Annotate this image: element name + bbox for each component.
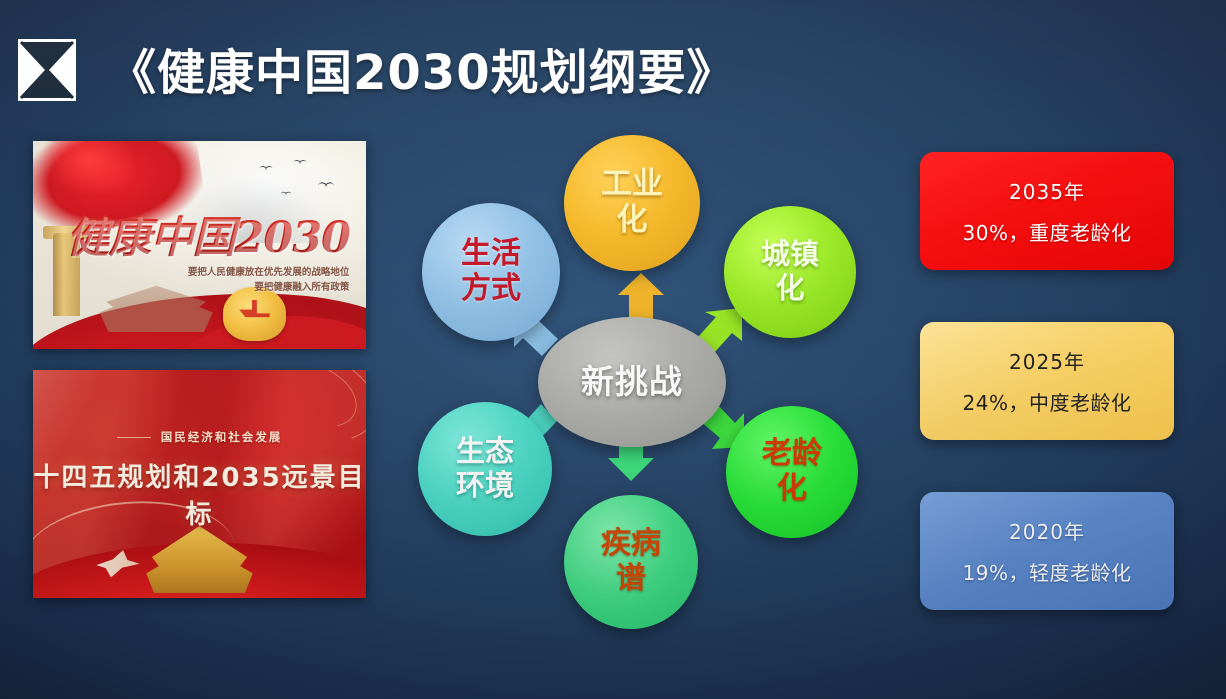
node-industrialization-line1: 工业 (601, 167, 663, 203)
card-2020-year: 2020年 (1009, 516, 1085, 545)
node-lifestyle-line1: 生活 (461, 237, 521, 272)
node-aging-population-line2: 化 (762, 472, 822, 507)
poster-health-subtitle: 要把人民健康放在优先发展的战略地位 要把健康融入所有政策 (143, 266, 349, 295)
health-china-2030-poster[interactable]: 健康中国2030 要把人民健康放在优先发展的战略地位 要把健康融入所有政策 (33, 141, 366, 349)
card-2020[interactable]: 2020年 19%，轻度老龄化 (920, 492, 1174, 610)
node-disease-spectrum-line2: 谱 (601, 562, 661, 597)
node-ecological-environment-line2: 环境 (456, 469, 514, 503)
poster-health-subtitle-line1: 要把人民健康放在优先发展的战略地位 (143, 266, 349, 281)
node-industrialization[interactable]: 工业 化 (564, 135, 700, 271)
node-urbanization[interactable]: 城镇 化 (724, 206, 856, 338)
bird-icon (293, 160, 307, 167)
bird-icon (318, 182, 335, 190)
slide-canvas: 《健康中国2030规划纲要》 健康中国2030 要把人民健康放在优先发展的战略地… (0, 0, 1226, 699)
node-lifestyle[interactable]: 生活 方式 (422, 203, 560, 341)
poster-health-subtitle-line2: 要把健康融入所有政策 (143, 281, 349, 296)
card-2035-year: 2035年 (1009, 176, 1085, 205)
five-year-plan-poster[interactable]: 国民经济和社会发展 十四五规划和2035远景目标 (33, 370, 366, 598)
hammer-sickle-mark (239, 300, 269, 324)
node-lifestyle-line2: 方式 (461, 272, 521, 307)
aging-forecast-cards: 2035年 30%，重度老龄化 2025年 24%，中度老龄化 2020年 19… (916, 131, 1208, 631)
node-urbanization-line1: 城镇 (761, 238, 819, 272)
node-disease-spectrum[interactable]: 疾病 谱 (564, 495, 698, 629)
card-2025[interactable]: 2025年 24%，中度老龄化 (920, 322, 1174, 440)
divider-rule (117, 437, 151, 438)
node-disease-spectrum-line1: 疾病 (601, 527, 661, 562)
card-2025-detail: 24%，中度老龄化 (963, 387, 1132, 416)
node-urbanization-line2: 化 (761, 272, 819, 306)
node-aging-population-line1: 老龄 (762, 437, 822, 472)
page-title: 《健康中国2030规划纲要》 (108, 33, 736, 103)
node-aging-population[interactable]: 老龄 化 (726, 406, 858, 538)
poster-health-title: 健康中国2030 (66, 203, 352, 265)
poster-plan-kicker: 国民经济和社会发展 (33, 429, 366, 445)
node-ecological-environment-line1: 生态 (456, 435, 514, 469)
card-2035-detail: 30%，重度老龄化 (963, 217, 1132, 246)
card-2025-year: 2025年 (1009, 346, 1085, 375)
node-new-challenges[interactable]: 新挑战 (538, 317, 726, 447)
bird-icon (281, 192, 292, 198)
poster-plan-kicker-text: 国民经济和社会发展 (161, 430, 283, 444)
arrow-up-industry (614, 271, 668, 321)
poster-plan-title: 十四五规划和2035远景目标 (33, 457, 366, 531)
card-2020-detail: 19%，轻度老龄化 (963, 557, 1132, 586)
node-new-challenges-label: 新挑战 (581, 363, 683, 401)
bird-icon (259, 166, 273, 173)
bowtie-x-icon (18, 39, 76, 101)
slide-header: 《健康中国2030规划纲要》 (0, 0, 1226, 128)
card-2035[interactable]: 2035年 30%，重度老龄化 (920, 152, 1174, 270)
node-ecological-environment[interactable]: 生态 环境 (418, 402, 552, 536)
new-challenges-diagram: 工业 化 城镇 化 老龄 化 疾病 谱 生态 环境 (396, 131, 886, 631)
node-industrialization-line2: 化 (601, 203, 663, 239)
